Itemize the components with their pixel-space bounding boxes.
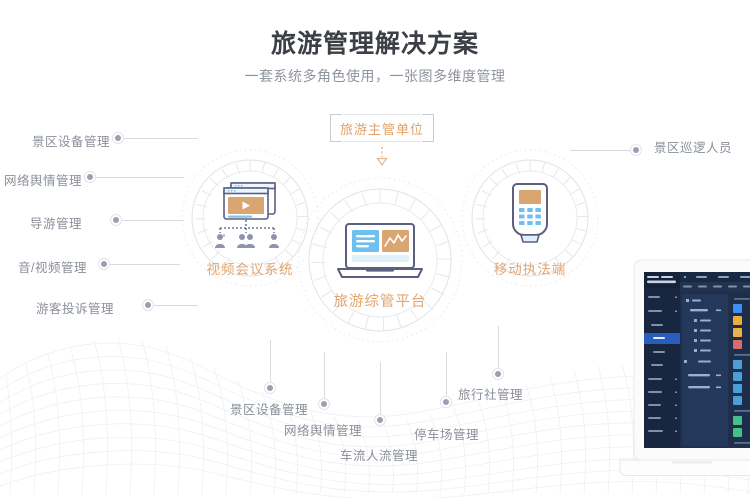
bottom-dot-0[interactable] (264, 382, 276, 394)
node-mobile-enforcement[interactable]: 移动执法端 (470, 180, 590, 278)
bottom-dot-4[interactable] (492, 368, 504, 380)
left-dot-2[interactable] (110, 214, 122, 226)
bottom-label-3: 停车场管理 (414, 424, 479, 443)
authority-box[interactable]: 旅游主管单位 (330, 114, 434, 142)
node-label-video-conference: 视频会议系统 (190, 258, 310, 278)
left-dot-1[interactable] (84, 171, 96, 183)
left-label-0: 景区设备管理 (32, 131, 110, 150)
node-video-conference[interactable]: 视频会议系统 (190, 180, 310, 278)
bottom-label-1: 网络舆情管理 (284, 420, 362, 439)
node-central-platform[interactable]: 旅游综管平台 (320, 222, 440, 311)
bottom-dot-2[interactable] (374, 414, 386, 426)
handheld-terminal-icon (500, 180, 560, 252)
page-subtitle: 一套系统多角色使用，一张图多维度管理 (0, 66, 750, 86)
authority-label: 旅游主管单位 (330, 114, 434, 142)
node-label-mobile-enforcement: 移动执法端 (470, 258, 590, 278)
left-dot-3[interactable] (98, 258, 110, 270)
video-window-players-icon (206, 180, 294, 252)
left-dot-4[interactable] (142, 299, 154, 311)
left-leader-3 (110, 264, 180, 265)
bottom-label-2: 车流人流管理 (340, 445, 418, 464)
bottom-leader-1 (324, 352, 325, 398)
bottom-leader-0 (270, 340, 271, 382)
node-label-central-platform: 旅游综管平台 (320, 290, 440, 311)
right-label-0: 景区巡逻人员 (654, 137, 732, 156)
bottom-label-0: 景区设备管理 (230, 399, 308, 418)
infographic-canvas: 旅游管理解决方案 一套系统多角色使用，一张图多维度管理 (0, 0, 750, 498)
left-label-4: 游客投诉管理 (36, 298, 114, 317)
page-title: 旅游管理解决方案 (0, 24, 750, 60)
bottom-leader-2 (380, 362, 381, 414)
left-leader-1 (96, 177, 184, 178)
left-leader-0 (124, 138, 198, 139)
right-dot-0[interactable] (630, 144, 642, 156)
right-leader-0 (570, 150, 630, 151)
bottom-leader-4 (498, 326, 499, 368)
left-label-1: 网络舆情管理 (4, 170, 82, 189)
left-leader-2 (122, 220, 184, 221)
bottom-dot-3[interactable] (440, 396, 452, 408)
left-dot-0[interactable] (112, 132, 124, 144)
left-label-2: 导游管理 (30, 213, 82, 232)
chevron-down-dotted-icon (371, 146, 393, 168)
left-label-3: 音/视频管理 (18, 257, 87, 276)
bottom-label-4: 旅行社管理 (458, 384, 523, 403)
left-leader-4 (154, 305, 198, 306)
laptop-dashboard-icon (328, 222, 432, 284)
laptop-admin-dashboard-mockup (618, 252, 750, 498)
bottom-leader-3 (446, 352, 447, 396)
bottom-dot-1[interactable] (318, 398, 330, 410)
